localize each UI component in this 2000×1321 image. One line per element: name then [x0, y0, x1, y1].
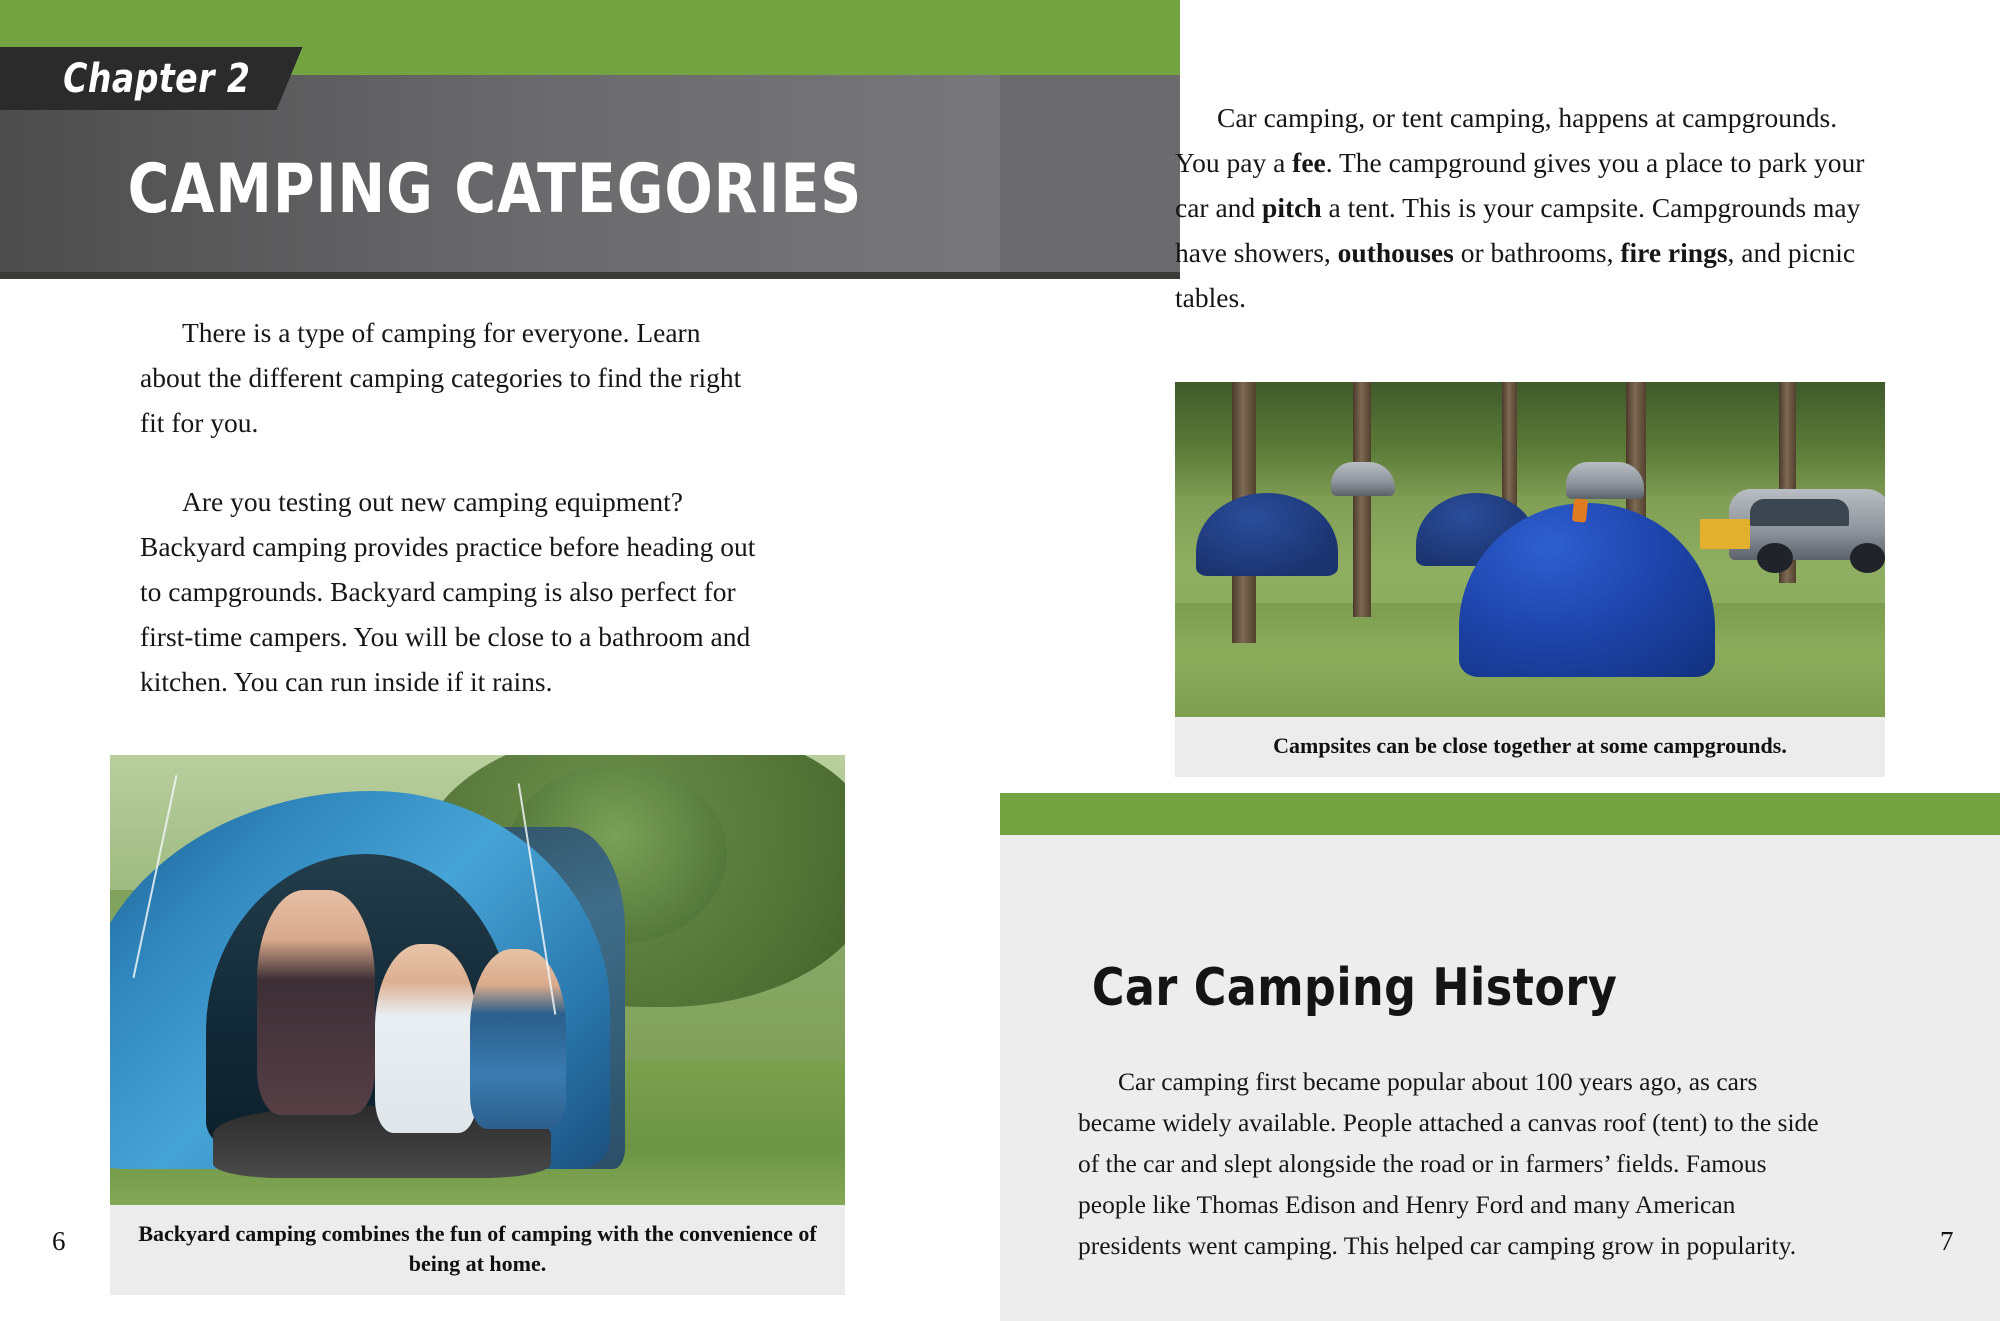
campsite-photo	[1175, 382, 1885, 717]
photo-person-boy-white	[375, 944, 478, 1133]
photo-tent-pole-orange	[1571, 499, 1588, 524]
right-page: Car camping, or tent camping, happens at…	[1000, 0, 2000, 1321]
page-number-right: 7	[1940, 1226, 1954, 1257]
header-gray-band-right	[1000, 75, 1180, 275]
glossary-term: fee	[1292, 147, 1326, 178]
page-title: CAMPING CATEGORIES	[0, 150, 1000, 229]
paragraph: Are you testing out new camping equipmen…	[140, 479, 760, 704]
glossary-term: outhouses	[1338, 237, 1454, 268]
figure-backyard-camping: Backyard camping combines the fun of cam…	[110, 755, 845, 1295]
chapter-title-text: CAMPING CATEGORIES	[128, 150, 863, 229]
figure-campsite: Campsites can be close together at some …	[1175, 382, 1885, 777]
photo-camp-chair	[1700, 519, 1750, 549]
sidebar-top-green-bar	[1000, 793, 2000, 835]
chapter-tab: Chapter 2	[0, 47, 303, 110]
book-spread: Chapter 2 CAMPING CATEGORIES There is a …	[0, 0, 2000, 1321]
chapter-label: Chapter 2	[63, 56, 250, 102]
sidebar-paragraph: Car camping first became popular about 1…	[1078, 1061, 1838, 1266]
paragraph: There is a type of camping for everyone.…	[140, 310, 760, 445]
glossary-term: fire rings	[1620, 237, 1727, 268]
sidebar-title-text: Car Camping History	[1092, 958, 1617, 1018]
sidebar-title: Car Camping History	[1078, 958, 1631, 1018]
figure-caption: Backyard camping combines the fun of cam…	[110, 1205, 845, 1295]
sidebar-text: Car camping first became popular about 1…	[1078, 1061, 1838, 1266]
photo-person-boy-striped	[470, 949, 566, 1129]
photo-person-girl	[257, 890, 375, 1115]
photo-car-far	[1566, 462, 1644, 499]
sidebar-car-camping-history: Car Camping History Car camping first be…	[1000, 793, 2000, 1321]
left-text-column: There is a type of camping for everyone.…	[140, 310, 760, 738]
header-bottom-rule-right	[1000, 272, 1180, 279]
photo-car-wheel	[1850, 543, 1886, 573]
photo-tree-trunk	[1353, 382, 1371, 617]
figure-caption: Campsites can be close together at some …	[1175, 717, 1885, 777]
left-page: Chapter 2 CAMPING CATEGORIES There is a …	[0, 0, 1000, 1321]
photo-car-far	[1331, 462, 1395, 496]
header-bottom-rule	[0, 272, 1000, 279]
photo-car-wheel	[1757, 543, 1793, 573]
paragraph-text: or bathrooms,	[1454, 237, 1621, 268]
page-number-left: 6	[52, 1226, 66, 1257]
photo-car-window	[1750, 499, 1849, 526]
paragraph-with-glossary-terms: Car camping, or tent camping, happens at…	[1175, 95, 1865, 320]
header-green-band-right	[1000, 0, 1180, 75]
right-text-column: Car camping, or tent camping, happens at…	[1175, 95, 1865, 320]
backyard-tent-photo	[110, 755, 845, 1205]
glossary-term: pitch	[1262, 192, 1322, 223]
photo-tent-blue-left	[1196, 493, 1338, 577]
